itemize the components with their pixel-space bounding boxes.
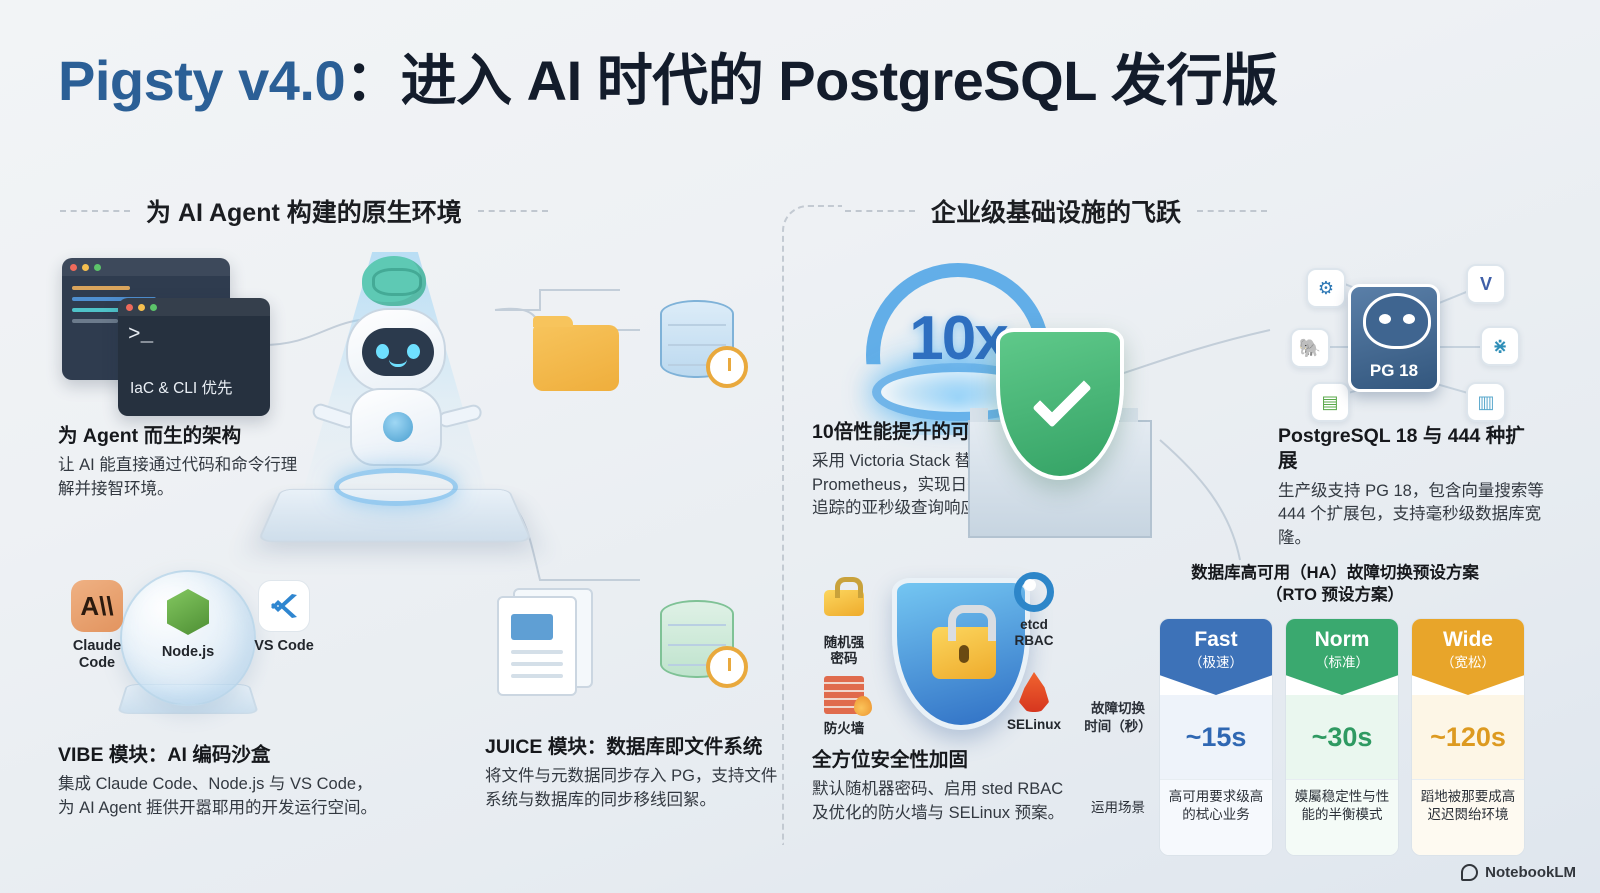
postgres-core-badge: PG 18 — [1348, 284, 1440, 392]
database-cylinder-bottom — [660, 600, 734, 678]
notebooklm-icon — [1461, 864, 1478, 881]
hub-line — [1440, 346, 1480, 348]
robot-body — [350, 388, 442, 466]
document-page-front — [497, 596, 577, 696]
juice-module-body: 将文件与元数据同步存入 PG，支持文件系统与数据库的同步移线回絮。 — [485, 765, 785, 812]
security-item-label: SELinux — [995, 717, 1073, 733]
tool-label: Claude Code — [53, 638, 141, 672]
page-title-rest: ：进入 AI 时代的 PostgreSQL 发行版 — [345, 49, 1277, 112]
checkmark-icon — [1032, 368, 1091, 427]
robot-face — [362, 328, 434, 376]
close-icon[interactable] — [126, 304, 133, 311]
ha-title-line1: 数据库高可用（HA）故障切换预设方案 — [1135, 562, 1535, 584]
juice-module-block: JUICE 模块：数据库即文件系统 将文件与元数据同步存入 PG，支持文件系统与… — [485, 735, 785, 812]
vibe-module-block: VIBE 模块：AI 编码沙盒 集成 Claude Code、Node.js 与… — [58, 743, 388, 820]
postgres-extension-hub: ⚙ 🐘 ▤ V ⋇ ▥ PG 18 — [1290, 262, 1510, 412]
clock-icon — [706, 646, 748, 688]
ai-robot-illustration — [316, 256, 476, 506]
ha-column-header: Wide （宽松） — [1412, 619, 1524, 695]
ha-use-case: 高可用要求级高的栻心业务 — [1160, 779, 1272, 855]
ha-column-header: Fast （极速） — [1160, 619, 1272, 695]
postgres-body: 生产级支持 PG 18，包含向量搜索等 444 个扩展包，支持毫秒级数据库宽隆。 — [1278, 480, 1544, 550]
security-item-label: etcd RBAC — [995, 617, 1073, 649]
ha-row-labels: 故障切换 时间（秒） 运用场景 — [1082, 700, 1154, 817]
robot-halo-ring — [334, 468, 458, 506]
dashed-rule-left-2 — [478, 210, 548, 212]
terminal-prompt-icon: >_ — [118, 316, 270, 347]
ha-row-label-rto: 故障切换 时间（秒） — [1082, 700, 1154, 735]
window-titlebar — [62, 258, 230, 276]
brain-icon — [362, 256, 426, 306]
security-item-firewall: 防火墙 — [805, 676, 883, 737]
robot-smile — [389, 359, 407, 367]
ha-column-name: Norm — [1286, 629, 1398, 651]
graph-network-icon: ⋇ — [1480, 326, 1520, 366]
code-line — [72, 286, 130, 290]
ha-use-case: 嫫屬稳定性与性能的半衡模式 — [1286, 779, 1398, 855]
padlock-icon — [932, 627, 996, 679]
postgres-elephant-icon: 🐘 — [1290, 328, 1330, 368]
juice-module-heading: JUICE 模块：数据库即文件系统 — [485, 735, 785, 760]
terminal-window: >_ — [118, 298, 270, 416]
folder-icon — [533, 325, 619, 391]
close-icon[interactable] — [70, 264, 77, 271]
ha-column-name-cn: （标准） — [1286, 651, 1398, 671]
notebooklm-watermark: NotebookLM — [1461, 864, 1576, 881]
maximize-icon[interactable] — [94, 264, 101, 271]
ha-column-norm[interactable]: Norm （标准） ~30s 嫫屬稳定性与性能的半衡模式 — [1285, 618, 1399, 856]
security-item-selinux: SELinux — [995, 672, 1073, 733]
page-title-brand: Pigsty v4.0 — [58, 49, 345, 112]
vector-v-icon: V — [1466, 264, 1506, 304]
ha-rto-value: ~30s — [1286, 695, 1398, 779]
elephant-icon — [1363, 293, 1431, 349]
security-item-label: 随机强 密码 — [805, 635, 883, 667]
secure-castle-illustration — [960, 300, 1160, 540]
ha-row-label-use: 运用场景 — [1082, 799, 1154, 817]
vibe-module-heading: VIBE 模块：AI 编码沙盒 — [58, 743, 388, 768]
pg-version-label: PG 18 — [1351, 361, 1437, 381]
ha-comparison-table: Fast （极速） ~15s 高可用要求级高的栻心业务 Norm （标准） ~3… — [1159, 618, 1525, 856]
ha-use-case: 蹈地被那要成高迟迟閦绐环境 — [1412, 779, 1524, 855]
ha-column-header: Norm （标准） — [1286, 619, 1398, 695]
agent-architecture-heading: 为 Agent 而生的架构 — [58, 424, 308, 449]
robot-head — [346, 308, 446, 392]
agent-architecture-block: 为 Agent 而生的架构 让 AI 能直接通过代码和命令行理解并接智环境。 — [58, 424, 308, 501]
security-body: 默认随机器密码、启用 sted RBAC 及优化的防火墙与 SELinux 预案… — [812, 778, 1072, 825]
page-title: Pigsty v4.0：进入 AI 时代的 PostgreSQL 发行版 — [58, 36, 1277, 117]
vibe-module-body: 集成 Claude Code、Node.js 与 VS Code，为 AI Ag… — [58, 773, 388, 820]
robot-eye-right — [407, 344, 420, 359]
minimize-icon[interactable] — [82, 264, 89, 271]
gear-rbac-icon — [1014, 572, 1054, 612]
ha-rto-value: ~15s — [1160, 695, 1272, 779]
agent-architecture-body: 让 AI 能直接通过代码和命令行理解并接智环境。 — [58, 454, 308, 501]
ha-column-name: Wide — [1412, 629, 1524, 651]
nodejs-hexagon-icon — [162, 586, 214, 638]
tool-nodejs[interactable]: Node.js — [144, 586, 232, 661]
postgres-heading: PostgreSQL 18 与 444 种扩展 — [1278, 424, 1544, 475]
infographic-canvas: Pigsty v4.0：进入 AI 时代的 PostgreSQL 发行版 为 A… — [0, 0, 1600, 893]
tool-vs-code[interactable]: VS Code — [240, 580, 328, 655]
section-header-right-label: 企业级基础设施的飞跃 — [931, 193, 1181, 229]
tool-claude-code[interactable]: A\\ Claude Code — [53, 580, 141, 672]
ha-column-name-cn: （宽松） — [1412, 651, 1524, 671]
cube-blocks-icon: ▥ — [1466, 382, 1506, 422]
maximize-icon[interactable] — [150, 304, 157, 311]
ha-title-line2: （RTO 预设方案） — [1135, 584, 1535, 606]
security-item-etcd-rbac: etcd RBAC — [995, 572, 1073, 649]
terminal-badge-label: IaC & CLI 优先 — [130, 376, 233, 398]
database-cylinder-top — [660, 300, 734, 378]
dashed-rule-left — [60, 210, 130, 212]
robot-eye-left — [376, 344, 389, 359]
vscode-icon — [258, 580, 310, 632]
ha-table-title: 数据库高可用（HA）故障切换预设方案 （RTO 预设方案） — [1135, 562, 1535, 607]
security-heading: 全方位安全性加固 — [812, 748, 1072, 773]
tool-label: VS Code — [240, 638, 328, 655]
ha-column-name: Fast — [1160, 629, 1272, 651]
clock-icon — [706, 346, 748, 388]
postgres-block: PostgreSQL 18 与 444 种扩展 生产级支持 PG 18，包含向量… — [1278, 424, 1544, 550]
ha-column-wide[interactable]: Wide （宽松） ~120s 蹈地被那要成高迟迟閦绐环境 — [1411, 618, 1525, 856]
watermark-label: NotebookLM — [1485, 864, 1576, 881]
stack-layers-icon: ▤ — [1310, 382, 1350, 422]
claude-icon: A\\ — [71, 580, 123, 632]
tool-label: Node.js — [144, 644, 232, 661]
security-item-random-password: 随机强 密码 — [805, 578, 883, 667]
ha-column-name-cn: （极速） — [1160, 651, 1272, 671]
ha-column-fast[interactable]: Fast （极速） ~15s 高可用要求级高的栻心业务 — [1159, 618, 1273, 856]
dashed-rule-right — [845, 210, 915, 212]
minimize-icon[interactable] — [138, 304, 145, 311]
section-header-right: 企业级基础设施的飞跃 — [845, 193, 1267, 229]
security-item-label: 防火墙 — [805, 721, 883, 737]
gears-icon: ⚙ — [1306, 268, 1346, 308]
security-block: 全方位安全性加固 默认随机器密码、启用 sted RBAC 及优化的防火墙与 S… — [812, 748, 1072, 825]
section-header-left-label: 为 AI Agent 构建的原生环境 — [146, 193, 462, 229]
terminal-titlebar — [118, 298, 270, 316]
robot-chest-core — [383, 412, 413, 442]
code-line — [72, 319, 118, 323]
firewall-icon — [824, 676, 864, 716]
ha-rto-value: ~120s — [1412, 695, 1524, 779]
section-header-left: 为 AI Agent 构建的原生环境 — [60, 193, 548, 229]
document-stack-icon — [497, 588, 593, 698]
padlock-icon — [824, 590, 864, 630]
dashed-rule-right-2 — [1197, 210, 1267, 212]
flame-icon — [1014, 672, 1054, 712]
